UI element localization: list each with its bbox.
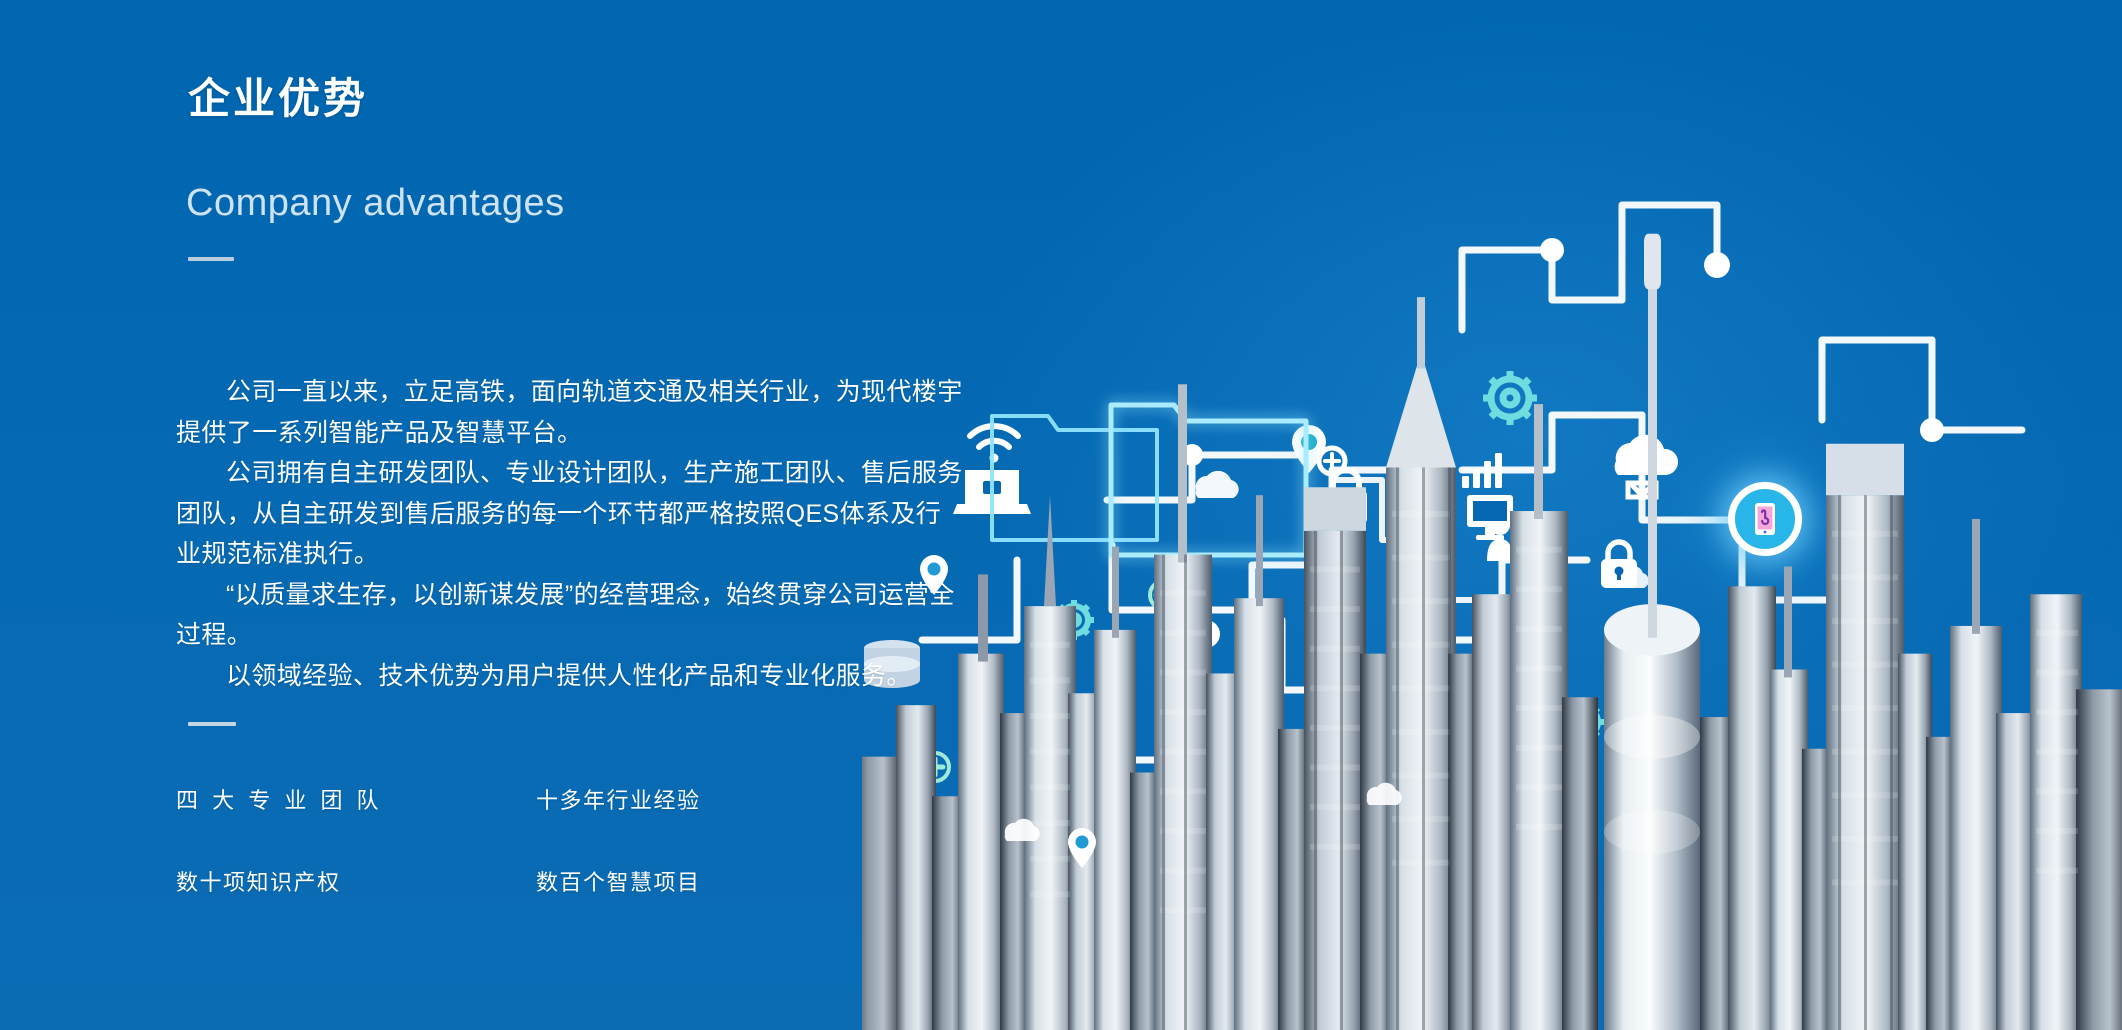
page-title-en: Company advantages — [186, 184, 565, 222]
cloud-icon — [1005, 819, 1040, 841]
feature-item-projects: 数百个智慧项目 — [536, 872, 836, 954]
paragraph: 公司拥有自主研发团队、专业设计团队，生产施工团队、售后服务团队，从自主研发到售后… — [176, 453, 966, 575]
page-title-cn: 企业优势 — [188, 78, 368, 120]
feature-list: 四 大 专 业 团 队 十多年行业经验 数十项知识产权 数百个智慧项目 — [176, 790, 836, 954]
paragraph: 以领域经验、技术优势为用户提供人性化产品和专业化服务。 — [176, 656, 966, 697]
feature-item-teams: 四 大 专 业 团 队 — [176, 790, 476, 872]
body-divider — [188, 722, 236, 726]
title-divider — [188, 257, 234, 261]
location-pin-icon — [1068, 828, 1096, 868]
paragraph: 公司一直以来，立足高铁，面向轨道交通及相关行业，为现代楼宇提供了一系列智能产品及… — [176, 372, 966, 453]
paragraph: “以质量求生存，以创新谋发展”的经营理念，始终贯穿公司运营全过程。 — [176, 575, 966, 656]
smart-city-illustration: 我们的优势 OUR ADVANTAGES — [862, 0, 2122, 1030]
body-copy: 公司一直以来，立足高铁，面向轨道交通及相关行业，为现代楼宇提供了一系列智能产品及… — [176, 372, 966, 696]
feature-item-experience: 十多年行业经验 — [536, 790, 836, 872]
text-column: 企业优势 Company advantages 公司一直以来，立足高铁，面向轨道… — [0, 0, 1000, 1030]
feature-item-patents: 数十项知识产权 — [176, 872, 476, 954]
cloud-icon — [1367, 783, 1402, 805]
skyline-icons — [862, 0, 2122, 1030]
company-advantages-section: 我们的优势 OUR ADVANTAGES — [0, 0, 2122, 1030]
